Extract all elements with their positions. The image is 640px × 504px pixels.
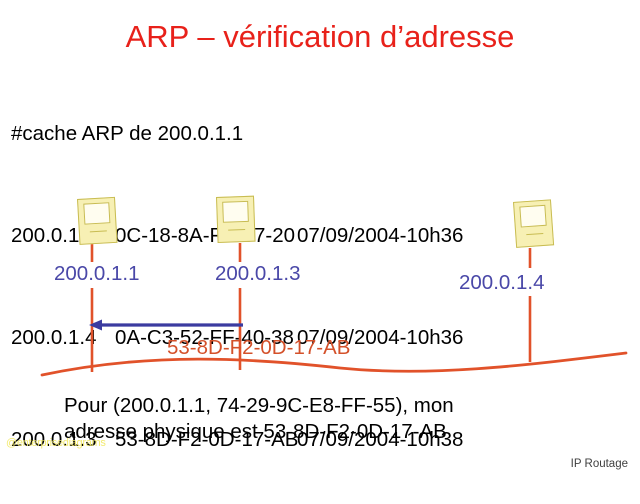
computer-screen-icon xyxy=(519,205,546,228)
host-1-ip-label: 200.0.1.1 xyxy=(54,262,140,286)
computer-screen-icon xyxy=(83,202,110,224)
computer-screen-icon xyxy=(222,201,249,223)
page-title: ARP – vérification d’adresse xyxy=(0,19,640,55)
cache-row-time: 07/09/2004-10h36 xyxy=(297,223,463,249)
arp-reply-message: Pour (200.0.1.1, 74-29-9C-E8-FF-55), mon… xyxy=(64,393,454,445)
host-2-ip-label: 200.0.1.3 xyxy=(215,262,301,286)
watermark: @enterprisediagrams xyxy=(6,437,106,449)
arp-cache-header: #cache ARP de 200.0.1.1 xyxy=(11,121,463,147)
cache-row-mac: 0C-18-8A-F3-B7-20 xyxy=(115,223,297,249)
cache-row-ip: 200.0.1.4 xyxy=(11,325,115,351)
arp-reply-message-line-2: adresse physique est 53-8D-F2-0D-17-AB xyxy=(64,419,454,445)
frame-source-mac-label: 53-8D-F2-0D-17-AB xyxy=(167,336,350,360)
slide-footer: IP Routage xyxy=(571,458,628,470)
slide-canvas: ARP – vérification d’adresse #cache ARP … xyxy=(0,0,640,480)
arp-reply-message-line-1: Pour (200.0.1.1, 74-29-9C-E8-FF-55), mon xyxy=(64,393,454,419)
host-3-ip-label: 200.0.1.4 xyxy=(459,271,545,295)
